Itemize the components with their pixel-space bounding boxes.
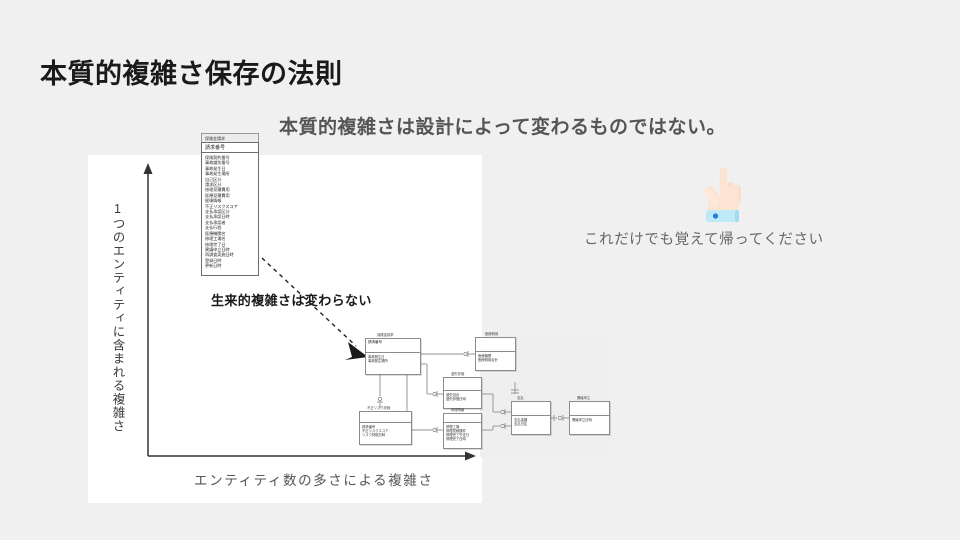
er-box-inspection: 過失割合 過失評価日時	[443, 377, 482, 409]
er-attribute-list: 請求番号 不正リスクスコア リスク評価日時	[360, 423, 411, 438]
er-attribute: 異議申立日時	[572, 418, 607, 422]
er-attribute-list: 異議申立日時	[570, 416, 609, 423]
er-pk-label: 請求番号	[368, 340, 418, 344]
er-attribute-list: 過失割合 過失評価日時	[444, 391, 481, 402]
er-box-repair: 修理工場 修理見積額件 修理完了予定日 修理完了日時	[443, 413, 482, 449]
er-box-title: 不正リスク評価	[367, 406, 390, 410]
er-attribute: 医療費用合計	[478, 358, 513, 362]
er-pk-row	[512, 402, 550, 416]
slide-subtitle: 本質的複雑さは設計によって変わるものではない。	[279, 112, 726, 139]
er-attribute: 修理完了日時	[446, 437, 479, 441]
er-box-title: 支払	[517, 396, 524, 400]
entity-pk-row: 請求番号	[201, 142, 259, 153]
er-pk-row	[444, 378, 481, 391]
er-pk-row	[570, 402, 609, 416]
er-attribute: 事故発生場所	[368, 359, 418, 363]
er-box-appeal: 異議申立日時	[569, 401, 610, 435]
er-pk-row	[476, 338, 515, 352]
er-box-title: 医療費用	[485, 332, 498, 336]
er-box-title: 過失評価	[451, 372, 464, 376]
pointing-up-hand-icon	[694, 166, 750, 228]
er-box-title: 保険金請求	[377, 333, 393, 337]
er-box-medical: 医療機関 医療費用合計	[475, 337, 516, 371]
entity-title: 保険金請求	[205, 136, 225, 141]
er-pk-row	[444, 414, 481, 423]
entity-pk-label: 請求番号	[205, 145, 225, 151]
er-box-title: 修理情報	[451, 408, 464, 412]
page-title: 本質的複雑さ保存の法則	[40, 52, 343, 91]
er-attribute: 過失評価日時	[446, 397, 479, 401]
er-box-claim: 請求番号 事故発生日 事故発生場所	[365, 338, 421, 375]
entity-attribute: 更新日時	[205, 263, 255, 268]
er-diagram: 保険金請求 請求番号 事故発生日 事故発生場所 不正リスク評価 請求番号 不正リ…	[355, 330, 617, 464]
er-attribute-list: 修理工場 修理見積額件 修理完了予定日 修理完了日時	[444, 423, 481, 442]
er-attribute-list: 医療機関 医療費用合計	[476, 352, 515, 363]
slide-canvas: 本質的複雑さ保存の法則 本質的複雑さは設計によって変わるものではない。 これだけ…	[0, 0, 960, 540]
er-box-payment: 支払金額 支払日区	[511, 401, 551, 435]
er-attribute-list: 支払金額 支払日区	[512, 416, 550, 427]
er-attribute: リスク評価日時	[362, 433, 409, 437]
x-axis-label: エンティティ数の多さによる複雑さ	[194, 469, 434, 489]
takeaway-note: これだけでも覚えて帰ってください	[584, 228, 824, 249]
er-pk-row	[360, 412, 411, 423]
entity-title-bar: 保険金請求	[201, 133, 259, 142]
er-pk-row: 請求番号	[366, 339, 420, 353]
er-attribute-list: 事故発生日 事故発生場所	[366, 353, 420, 364]
er-attribute: 支払日区	[514, 422, 548, 426]
er-box-fraud-risk: 請求番号 不正リスクスコア リスク評価日時	[359, 411, 412, 445]
y-axis-label: 1つのエンティティに含まれる複雑さ	[107, 186, 129, 448]
er-box-title: 異議申立	[577, 396, 590, 400]
